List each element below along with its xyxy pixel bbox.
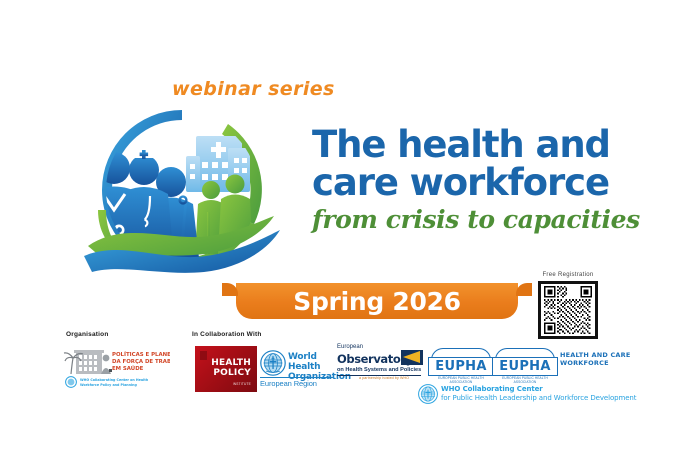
eupha-name-2: EUPHA [499,359,550,374]
european-observatory-logo: European Observatory on Health Systems a… [337,344,425,392]
health-policy-title: HEALTH POLICY [211,359,251,378]
organisation-logo: POLÍTICAS E PLANEAMENTO DA FORÇA DE TRAB… [62,344,170,390]
season-banner: Spring 2026 [236,283,518,319]
headline-line-2: care workforce [312,164,612,202]
observatory-flag-icon [401,350,423,365]
who-logo: World Health Organization European Regio… [260,346,336,392]
eupha-tagline-1: EUROPEAN PUBLIC HEALTH ASSOCIATION [428,376,494,384]
who-cc-emblem-icon [418,384,438,404]
eupha-logo-2: EUPHA EUROPEAN PUBLIC HEALTH ASSOCIATION [492,348,558,382]
svg-text:POLÍTICAS E PLANEAMENTO: POLÍTICAS E PLANEAMENTO [112,350,170,358]
poster-footer: Organisation In Collaboration With [0,326,675,416]
health-workforce-emblem-icon [78,104,294,276]
svg-text:WHO Collaborating Center on He: WHO Collaborating Center on Health [80,378,149,382]
eupha-section-name: HEALTH AND CARE WORKFORCE [560,352,631,367]
eupha-logo-1: EUPHA EUROPEAN PUBLIC HEALTH ASSOCIATION [428,348,494,382]
eupha-section-line-2: WORKFORCE [560,360,631,368]
who-cc-line-1: WHO Collaborating Center [441,385,636,394]
eupha-name-1: EUPHA [435,359,486,374]
who-cc-line-2: for Public Health Leadership and Workfor… [441,394,636,403]
svg-text:Workforce Policy and Planning: Workforce Policy and Planning [80,383,137,387]
headline-line-1: The health and [312,126,612,164]
webinar-series-kicker: webinar series [172,78,335,100]
who-region: European Region [260,379,317,388]
webinar-poster: webinar series [0,0,675,450]
svg-text:EM SAÚDE: EM SAÚDE [112,365,144,372]
poster-headline: The health and care workforce from crisi… [312,126,612,234]
free-registration-label: Free Registration [532,272,604,278]
health-policy-line-2: POLICY [211,369,251,379]
collaboration-label: In Collaboration With [192,331,262,338]
organisation-label: Organisation [66,331,109,338]
health-policy-mark-icon [200,351,207,360]
health-policy-subtitle: INSTITUTE [233,382,251,386]
observatory-subtitle: on Health Systems and Policies [337,367,421,373]
observatory-tagline: a partnership hosted by WHO [359,376,409,380]
season-banner-label: Spring 2026 [236,283,518,319]
eupha-tagline-2: EUROPEAN PUBLIC HEALTH ASSOCIATION [492,376,558,384]
health-policy-logo: HEALTH POLICY INSTITUTE [195,346,257,392]
who-cc-text: WHO Collaborating Center for Public Heal… [441,385,636,402]
headline-subtitle: from crisis to capacities [312,206,612,234]
who-collaborating-center-block: WHO Collaborating Center for Public Heal… [418,384,668,406]
who-emblem-icon [260,350,286,376]
eupha-name-box-1: EUPHA [428,357,494,376]
eupha-name-box-2: EUPHA [492,357,558,376]
who-divider [260,377,334,378]
observatory-top-word: European [337,344,363,350]
svg-text:DA FORÇA DE TRABALHO: DA FORÇA DE TRABALHO [112,359,170,365]
